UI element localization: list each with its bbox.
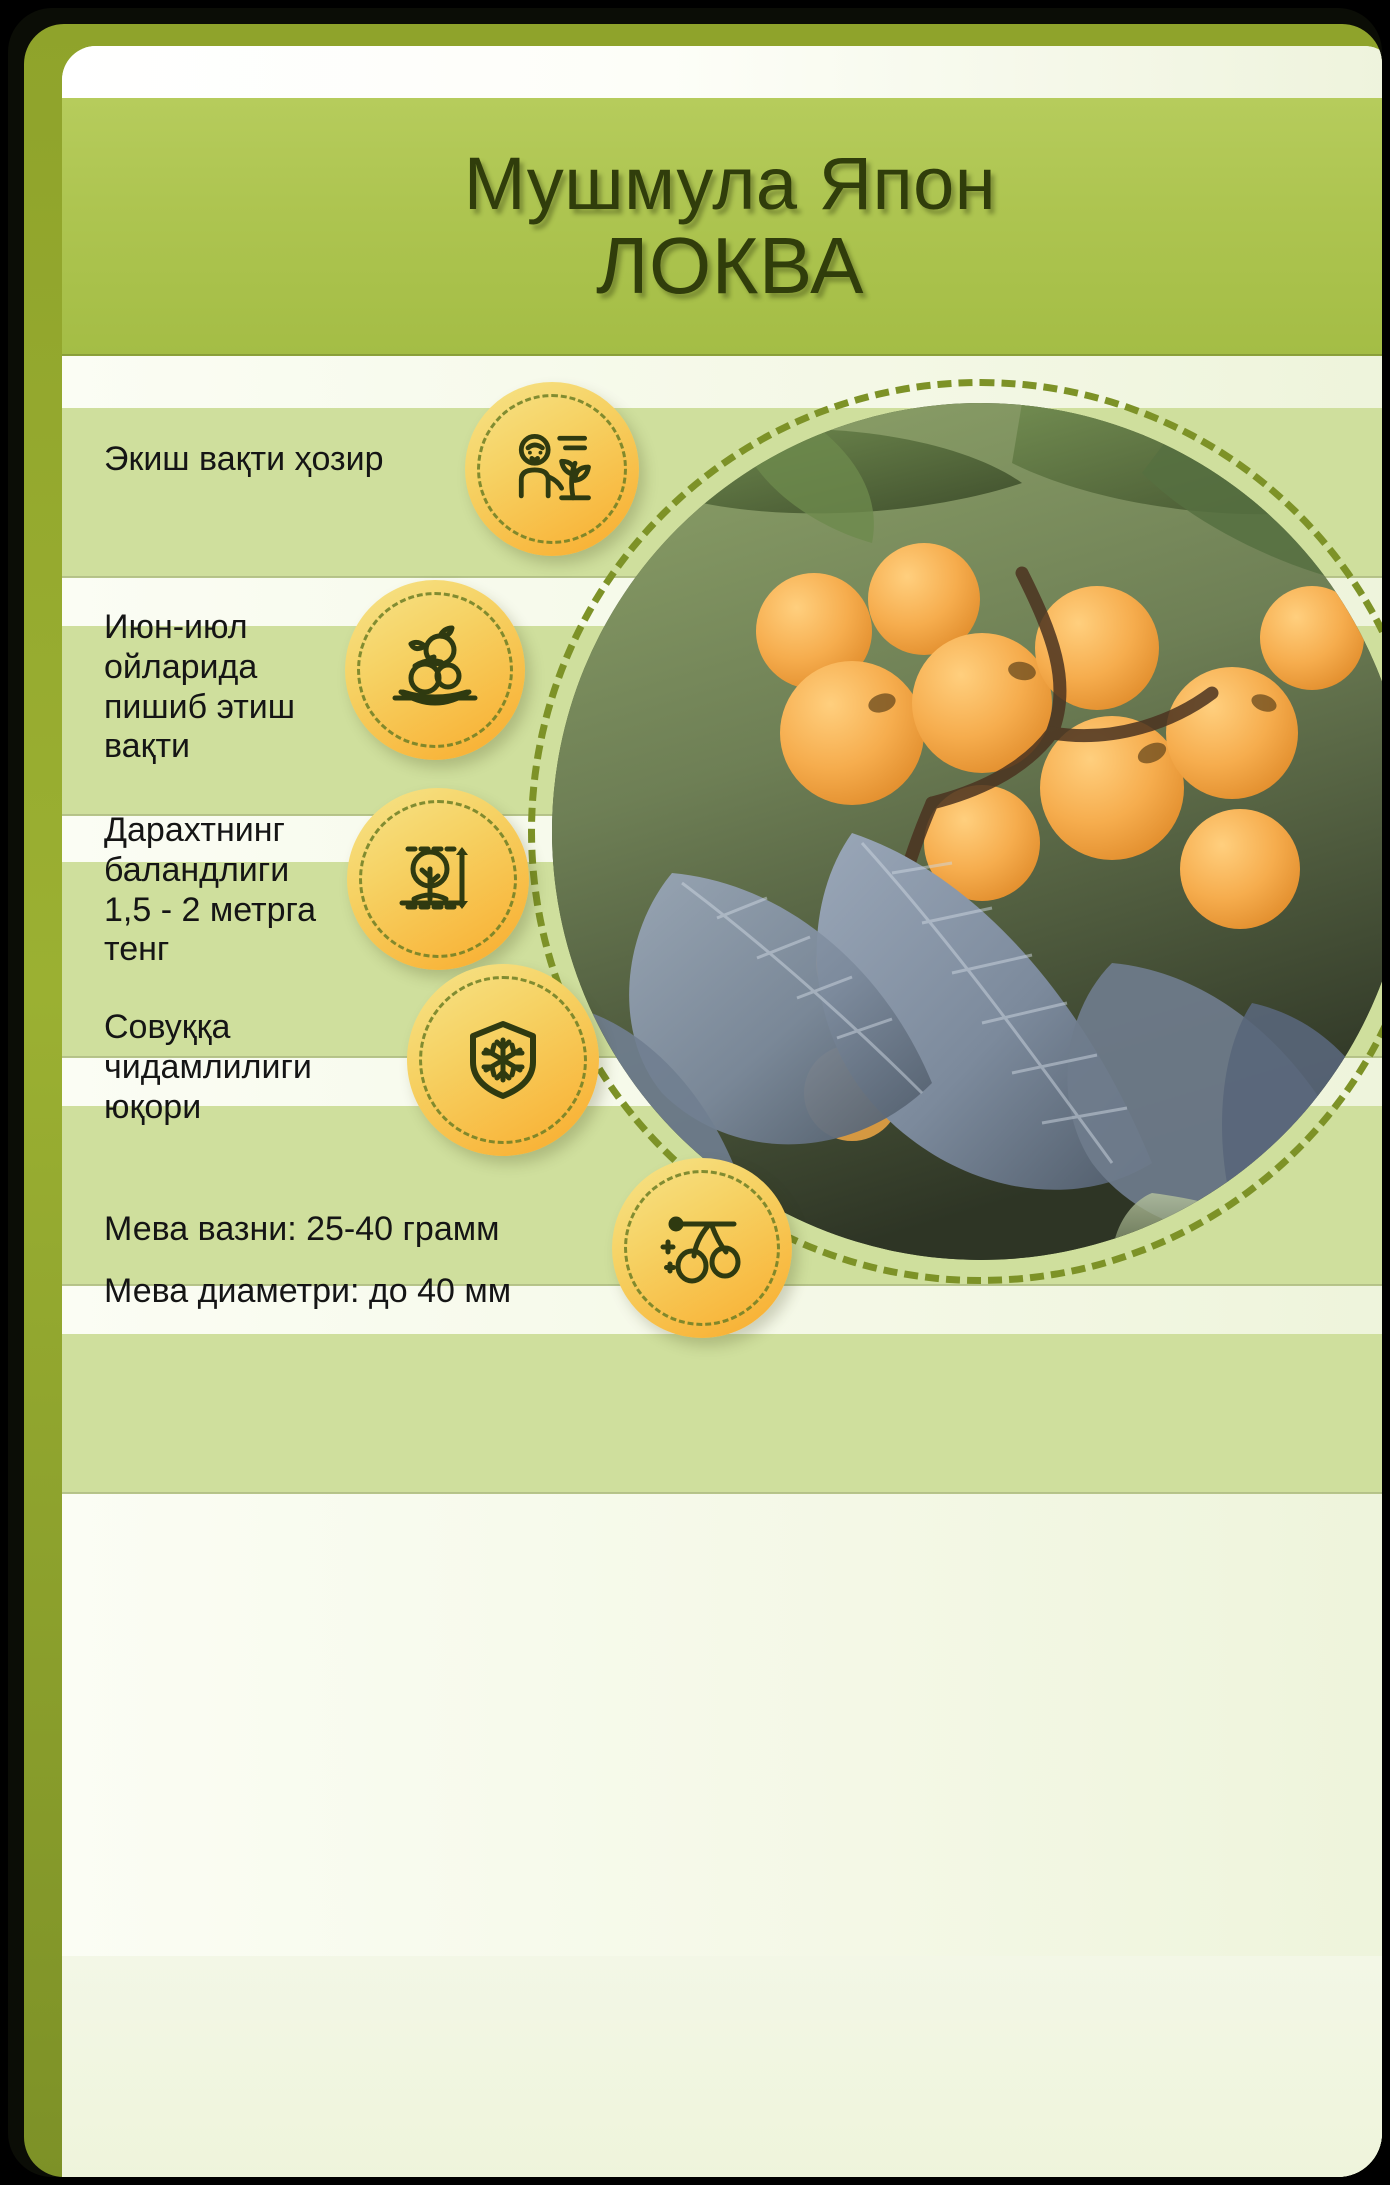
tree-height-icon xyxy=(347,788,529,970)
loquat-fruit-photo xyxy=(552,403,1382,1260)
poster-header: Мушмула Япон ЛОКВА xyxy=(62,98,1382,356)
snowflake-shield-icon xyxy=(407,964,599,1156)
page-title-line1: Мушмула Япон xyxy=(464,145,996,223)
page-title-line2: ЛОКВА xyxy=(596,224,864,309)
poster-root: Мушмула Япон ЛОКВА xyxy=(0,0,1390,2185)
poster-card: Мушмула Япон ЛОКВА xyxy=(62,46,1382,2177)
stripe-green-5 xyxy=(62,1334,1382,1494)
fact-label-ripening-time: Июн-июл ойларида пишиб этиш вақти xyxy=(104,608,374,767)
farmer-planting-icon xyxy=(465,382,639,556)
fact-label-planting-time: Экиш вақти ҳозир xyxy=(104,440,474,480)
bottom-filler xyxy=(62,1956,1382,2177)
fruit-basket-icon xyxy=(345,580,525,760)
loquat-photo-frame xyxy=(528,379,1382,1284)
poster-frame-outer: Мушмула Япон ЛОКВА xyxy=(8,8,1382,2177)
top-accent-strip xyxy=(62,46,1382,98)
fact-label-cold-resistance: Совуққа чидамлилиги юқори xyxy=(104,1008,384,1127)
fact-label-fruit-weight: Мева вазни: 25-40 грамм xyxy=(104,1210,624,1250)
poster-frame-rim: Мушмула Япон ЛОКВА xyxy=(24,24,1382,2177)
fact-label-fruit-diameter: Мева диаметри: до 40 мм xyxy=(104,1272,624,1312)
cherry-fruit-icon xyxy=(612,1158,792,1338)
